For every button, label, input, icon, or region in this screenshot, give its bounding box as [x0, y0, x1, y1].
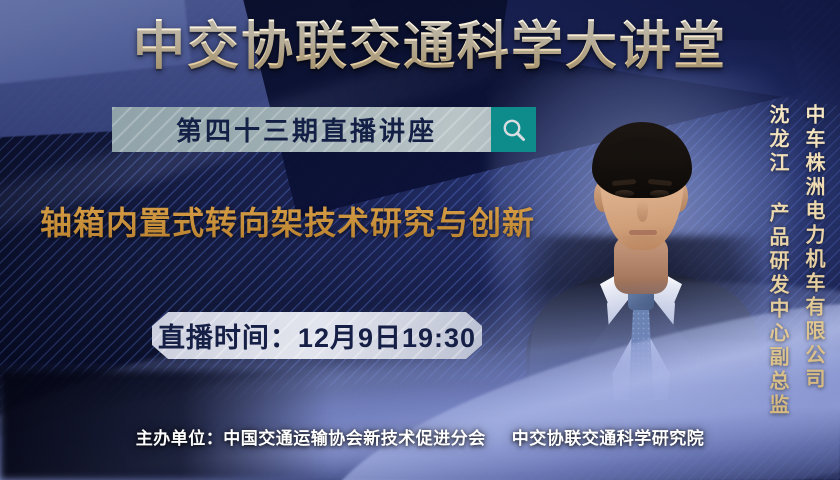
- broadcast-time-text: 直播时间：12月9日19:30: [158, 316, 476, 355]
- episode-banner: 第四十三期直播讲座: [112, 107, 536, 152]
- broadcast-time-badge: 直播时间：12月9日19:30: [152, 312, 482, 359]
- live-stream-poster: 中交协联交通科学大讲堂 第四十三期直播讲座 轴箱内置式转向架技术研究与创新 直播…: [0, 0, 840, 480]
- footer-org-2: 中交协联交通科学研究院: [512, 429, 705, 448]
- episode-label: 第四十三期直播讲座: [112, 111, 491, 148]
- speaker-company: 中车株洲电力机车有限公司: [799, 104, 828, 392]
- speaker-name-role: 沈龙江 产品研发中心副总监: [763, 104, 792, 418]
- eye-right: [650, 190, 669, 197]
- search-icon[interactable]: [491, 107, 536, 152]
- footer-organizers: 主办单位：中国交通运输协会新技术促进分会中交协联交通科学研究院: [0, 424, 840, 449]
- chin-shading: [616, 236, 668, 250]
- lecture-topic: 轴箱内置式转向架技术研究与创新: [40, 198, 535, 244]
- page-title: 中交协联交通科学大讲堂: [133, 18, 727, 76]
- nose: [637, 200, 648, 222]
- footer-prefix: 主办单位：: [136, 429, 224, 448]
- eye-left: [615, 190, 634, 197]
- mouth: [629, 230, 657, 235]
- footer-org-1: 中国交通运输协会新技术促进分会: [223, 429, 486, 448]
